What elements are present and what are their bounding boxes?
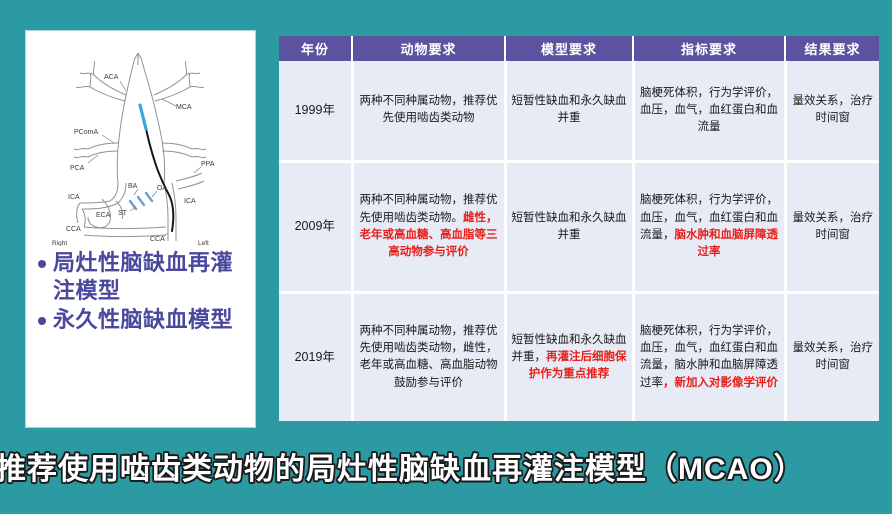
diagram-label-pcoma: PComA (74, 129, 98, 136)
left-illustration-card: ACA MCA PComA PCA PPA BA OA ST ICA ICA E… (26, 31, 255, 427)
diagram-label-ica-right: ICA (68, 194, 80, 201)
diagram-label-cca-left: CCA (150, 236, 165, 243)
bottom-caption-bar: 推荐使用啮齿类动物的局灶性脑缺血再灌注模型（MCAO） (0, 436, 892, 496)
column-header-animal: 动物要求 (352, 36, 505, 61)
cell-year: 2009年 (279, 161, 352, 292)
cell-year: 2019年 (279, 292, 352, 421)
cell-index-requirement: 脑梗死体积，行为学评价，血压，血气，血红蛋白和血流量 (633, 61, 785, 161)
plain-text: 短暂性缺血和永久缺血并重 (512, 212, 627, 241)
column-header-result: 结果要求 (785, 36, 879, 61)
cell-model-requirement: 短暂性缺血和永久缺血并重 (505, 161, 633, 292)
list-item: 局灶性脑缺血再灌注模型 (36, 249, 249, 304)
highlighted-text: ，新加入对影像学评价 (663, 377, 778, 389)
cell-model-requirement: 短暂性缺血和永久缺血并重 (505, 61, 633, 161)
diagram-label-side-left: Left (198, 240, 209, 246)
cell-index-requirement: 脑梗死体积，行为学评价，血压，血气，血红蛋白和血流量，脑水肿和血脑屏障透过率 (633, 161, 785, 292)
diagram-label-mca: MCA (176, 104, 192, 111)
cerebral-arterial-circulation-mcao-diagram: ACA MCA PComA PCA PPA BA OA ST ICA ICA E… (26, 31, 255, 246)
table-row: 1999年两种不同种属动物，推荐优先使用啮齿类动物短暂性缺血和永久缺血并重脑梗死… (279, 61, 879, 161)
diagram-label-st: ST (118, 210, 128, 217)
cell-animal-requirement: 两种不同种属动物，推荐优先使用啮齿类动物，雌性，老年或高血糖、高血脂动物鼓励参与… (352, 292, 505, 421)
caption-text: 推荐使用啮齿类动物的局灶性脑缺血再灌注模型（MCAO） (0, 444, 805, 488)
cell-result-requirement: 量效关系，治疗时间窗 (785, 161, 879, 292)
cell-index-requirement: 脑梗死体积，行为学评价，血压，血气，血红蛋白和血流量，脑水肿和血脑屏障透过率，新… (633, 292, 785, 421)
plain-text: 两种不同种属动物，推荐优先使用啮齿类动物 (360, 95, 498, 124)
diagram-label-side-right: Right (52, 240, 67, 246)
column-header-year: 年份 (279, 36, 352, 61)
cell-result-requirement: 量效关系，治疗时间窗 (785, 292, 879, 421)
plain-text: 量效关系，治疗时间窗 (793, 212, 874, 241)
model-type-bullet-list: 局灶性脑缺血再灌注模型 永久性脑缺血模型 (26, 249, 255, 336)
bullet-dot-icon (38, 260, 46, 268)
diagram-label-ba: BA (128, 183, 138, 190)
list-item-label: 局灶性脑缺血再灌注模型 (53, 249, 249, 304)
cell-animal-requirement: 两种不同种属动物，推荐优先使用啮齿类动物 (352, 61, 505, 161)
list-item-label: 永久性脑缺血模型 (53, 306, 249, 334)
cell-year: 1999年 (279, 61, 352, 161)
diagram-label-cca-right: CCA (66, 226, 81, 233)
column-header-model: 模型要求 (505, 36, 633, 61)
diagram-label-pca: PCA (70, 165, 85, 172)
diagram-label-oa: OA (157, 185, 167, 192)
plain-text: 量效关系，治疗时间窗 (793, 342, 874, 371)
diagram-label-aca: ACA (104, 74, 119, 81)
requirements-comparison-table: 年份 动物要求 模型要求 指标要求 结果要求 1999年两种不同种属动物，推荐优… (279, 36, 879, 421)
list-item: 永久性脑缺血模型 (36, 306, 249, 334)
table-row: 2009年两种不同种属动物，推荐优先使用啮齿类动物。雌性，老年或高血糖、高血脂等… (279, 161, 879, 292)
plain-text: 脑梗死体积，行为学评价，血压，血气，血红蛋白和血流量 (640, 87, 778, 134)
cell-animal-requirement: 两种不同种属动物，推荐优先使用啮齿类动物。雌性，老年或高血糖、高血脂等三高动物参… (352, 161, 505, 292)
highlighted-text: 脑水肿和血脑屏障透过率 (675, 229, 779, 258)
plain-text: 短暂性缺血和永久缺血并重 (512, 95, 627, 124)
diagram-label-ppa: PPA (201, 161, 215, 168)
diagram-label-eca: ECA (96, 212, 111, 219)
column-header-index: 指标要求 (633, 36, 785, 61)
diagram-label-ica-left: ICA (184, 198, 196, 205)
table-row: 2019年两种不同种属动物，推荐优先使用啮齿类动物，雌性，老年或高血糖、高血脂动… (279, 292, 879, 421)
plain-text: 量效关系，治疗时间窗 (793, 95, 874, 124)
cell-result-requirement: 量效关系，治疗时间窗 (785, 61, 879, 161)
cell-model-requirement: 短暂性缺血和永久缺血并重，再灌注后细胞保护作为重点推荐 (505, 292, 633, 421)
bullet-dot-icon (38, 317, 46, 325)
plain-text: 两种不同种属动物，推荐优先使用啮齿类动物，雌性，老年或高血糖、高血脂动物鼓励参与… (360, 325, 498, 389)
table-header-row: 年份 动物要求 模型要求 指标要求 结果要求 (279, 36, 879, 61)
